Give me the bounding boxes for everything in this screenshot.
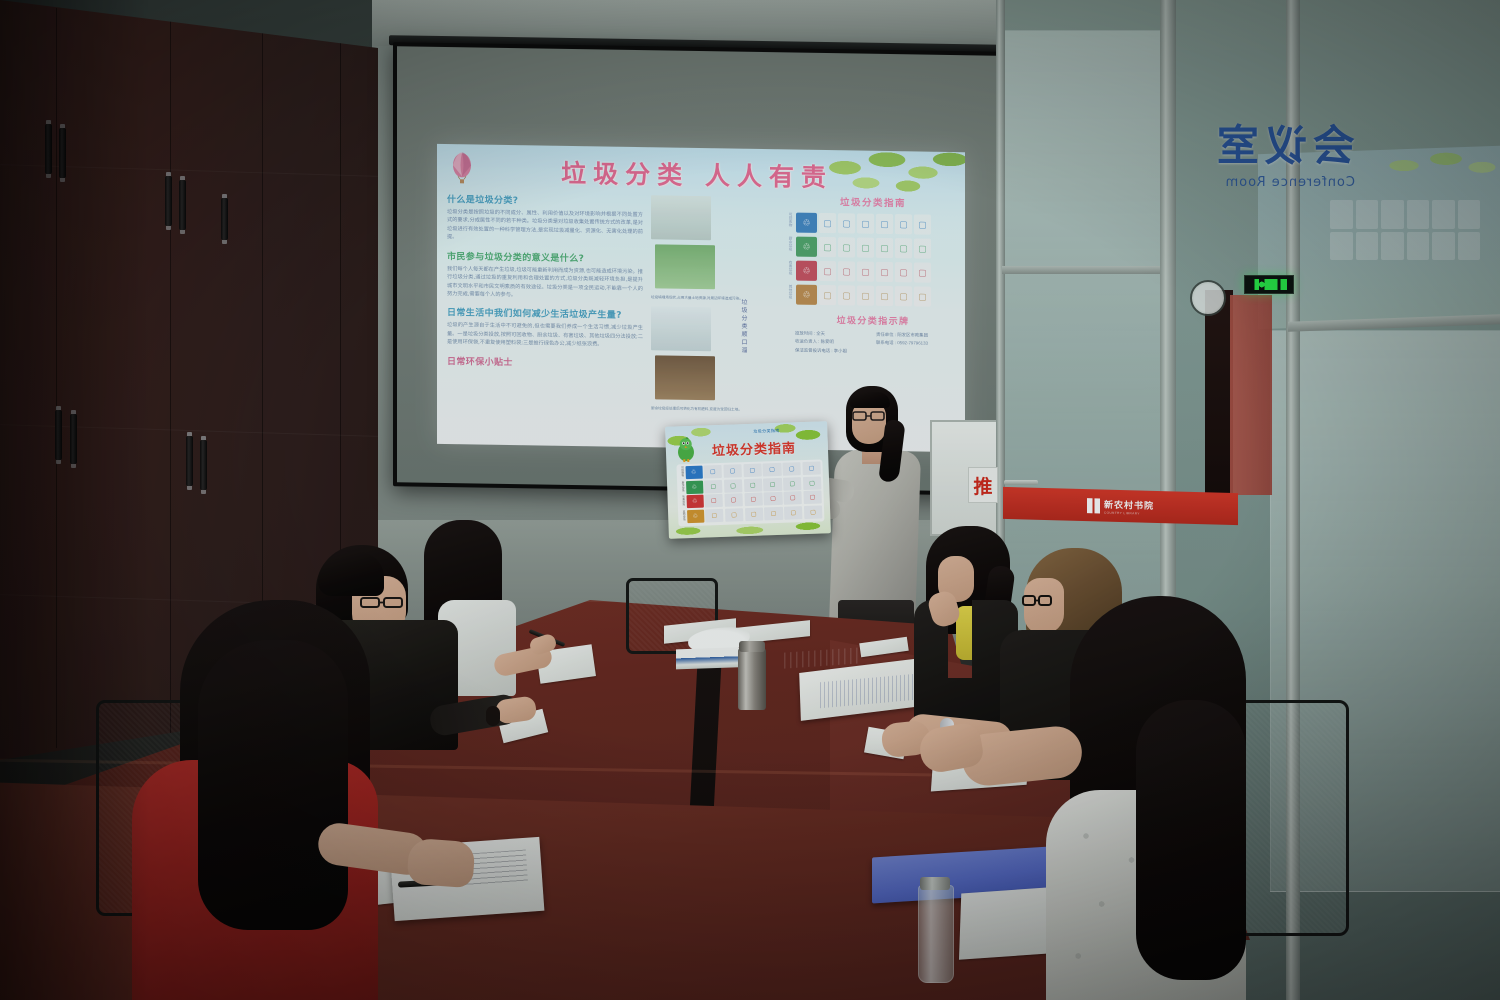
guide-item-1: ▢ — [838, 237, 855, 257]
slide-body-3: 垃圾的产生源自于生活中不可避免的,但也需要我们养成一个生活习惯,减少垃圾产生量。… — [447, 321, 643, 349]
poster-row-label: 可回收物 — [678, 466, 683, 479]
slide-heading-1: 什么是垃圾分类? — [447, 192, 643, 208]
conference-room-sign-en: Conference Room — [1155, 175, 1355, 190]
guide-item-4: ▢ — [895, 286, 912, 306]
slide-photo-caption-2: 厨余垃圾经处理后可转化为有机肥料,变废为宝回归土地。 — [651, 407, 779, 414]
poster-category-badge: ♲ — [686, 495, 703, 509]
poster-item-2: ▢ — [743, 464, 762, 478]
guide-item-0: ▢ — [819, 237, 836, 257]
slide-photo-landfill — [651, 195, 711, 240]
conference-room-sign-cn: 会议室 — [1155, 112, 1355, 173]
guide-panel-title: 垃圾分类指南 — [789, 193, 957, 210]
poster-item-4: ▢ — [783, 491, 802, 505]
guide-item-5: ▢ — [914, 286, 931, 306]
poster-item-0: ▢ — [704, 494, 723, 508]
poster-item-5: ▢ — [803, 476, 822, 490]
guide-row-2: 有害垃圾♲▢▢▢▢▢▢ — [789, 260, 957, 283]
bottle-cap[interactable] — [920, 877, 950, 890]
thermos-lid[interactable] — [739, 641, 765, 652]
guide-item-3: ▢ — [876, 214, 893, 234]
slide-vertical-text: 垃圾分类顺口溜 — [739, 299, 748, 355]
guide-item-1: ▢ — [838, 285, 855, 305]
cabinet-handle[interactable] — [221, 198, 228, 240]
guide-item-2: ▢ — [857, 286, 874, 306]
poster-item-3: ▢ — [763, 477, 782, 491]
guide-item-3: ▢ — [876, 286, 893, 306]
cabinet-handle[interactable] — [179, 180, 186, 230]
guide-item-5: ▢ — [914, 262, 931, 282]
poster-item-4: ▢ — [784, 506, 803, 520]
guide-item-0: ▢ — [819, 285, 836, 305]
guide-item-2: ▢ — [857, 238, 874, 258]
poster-board[interactable]: 垃圾分类指南 垃圾分类指南 可回收物♲▢▢▢▢▢▢厨余垃圾♲▢▢▢▢▢▢有害垃圾… — [665, 421, 831, 539]
poster-item-1: ▢ — [725, 508, 744, 522]
slide-body-2: 我们每个人每天都在产生垃圾,垃圾可能重新利用而成为资源,也可能造成环境污染。推行… — [447, 265, 643, 302]
attendee-1-hand — [406, 838, 475, 888]
emergency-exit-icon — [1244, 275, 1294, 294]
guide-category-badge: ♲ — [796, 261, 817, 281]
poster-category-badge: ♲ — [685, 480, 702, 494]
poster-item-1: ▢ — [724, 479, 743, 493]
left-shadow-gradient — [0, 0, 150, 1000]
poster-item-0: ▢ — [703, 465, 722, 479]
corridor-shadow — [1205, 290, 1233, 500]
poster-item-5: ▢ — [803, 490, 822, 504]
poster-item-2: ▢ — [744, 493, 763, 507]
poster-title: 垃圾分类指南 — [712, 437, 797, 459]
guide-row-0: 可回收物♲▢▢▢▢▢▢ — [789, 212, 957, 235]
guide-item-5: ▢ — [914, 214, 931, 234]
guide-row-1: 厨余垃圾♲▢▢▢▢▢▢ — [789, 236, 957, 259]
guide-item-5: ▢ — [914, 238, 931, 258]
guide-item-3: ▢ — [876, 262, 893, 282]
poster-item-1: ▢ — [724, 493, 743, 507]
slide-title: 垃圾分类 人人有责 — [547, 154, 847, 195]
glass-mullion-horizontal — [1002, 266, 1160, 274]
presenter-fringe — [850, 392, 890, 408]
poster-item-3: ▢ — [764, 506, 783, 520]
poster-row-label: 厨余垃圾 — [679, 481, 684, 494]
guide-category-badge: ♲ — [796, 285, 817, 305]
guide-item-1: ▢ — [838, 261, 855, 281]
push-sign: 推 — [968, 467, 998, 503]
guide-category-badge: ♲ — [796, 237, 817, 257]
guide-item-2: ▢ — [857, 262, 874, 282]
poster-item-0: ▢ — [705, 508, 724, 522]
poster-brand-mark: 垃圾分类指南 — [753, 428, 780, 435]
sign-field-4: 保洁监督投诉电话 : 李小姐 — [795, 346, 870, 356]
green-bird-mascot-icon — [674, 436, 697, 463]
slide-photo-compost — [655, 356, 715, 401]
guide-item-3: ▢ — [876, 238, 893, 258]
guide-item-4: ▢ — [895, 238, 912, 258]
poster-item-3: ▢ — [764, 492, 783, 506]
slide-photo-bottles — [651, 307, 711, 352]
guide-category-badge: ♲ — [796, 213, 817, 233]
poster-item-4: ▢ — [783, 477, 802, 491]
slide-right-column: 垃圾分类指南 可回收物♲▢▢▢▢▢▢厨余垃圾♲▢▢▢▢▢▢有害垃圾♲▢▢▢▢▢▢… — [789, 193, 957, 357]
wall-clock — [1190, 280, 1226, 316]
door-brand-band: 新农村书院 COUNTRY LIBRARY — [1003, 487, 1238, 525]
guide-item-0: ▢ — [819, 261, 836, 281]
poster-item-0: ▢ — [704, 479, 723, 493]
slide-photo-bins — [655, 244, 715, 289]
reflected-leaf-graphic — [1380, 152, 1500, 186]
guide-item-4: ▢ — [895, 214, 912, 234]
poster-category-badge: ♲ — [685, 466, 702, 480]
guide-item-4: ▢ — [895, 262, 912, 282]
slide-heading-3: 日常生活中我们如何减少生活垃圾产生量? — [447, 305, 643, 321]
slide-photo-caption-1: 垃圾填埋场现状,占用大量土地资源,对周边环境造成污染。 — [651, 295, 779, 302]
poster-item-3: ▢ — [763, 463, 782, 477]
poster-item-5: ▢ — [804, 505, 823, 519]
poster-category-badge: ♲ — [686, 509, 703, 523]
guide-row-side-label: 厨余垃圾 — [789, 236, 794, 256]
attendee-2-fringe — [318, 552, 384, 596]
slide-body-1: 垃圾分类是按照垃圾的不同成分、属性、利用价值以及对环境影响并根据不同处置方式的要… — [447, 208, 643, 245]
poster-item-2: ▢ — [744, 507, 763, 521]
slide-left-column: 什么是垃圾分类? 垃圾分类是按照垃圾的不同成分、属性、利用价值以及对环境影响并根… — [447, 192, 643, 373]
thermos-flask[interactable] — [738, 648, 766, 710]
cabinet-handle[interactable] — [165, 176, 172, 226]
guide-item-2: ▢ — [857, 214, 874, 234]
door-handle[interactable] — [1004, 480, 1038, 485]
conference-room-sign: 会议室 Conference Room — [1155, 112, 1355, 220]
glasses-icon — [360, 596, 404, 610]
cabinet-handle[interactable] — [200, 440, 207, 490]
guide-row-side-label: 其他垃圾 — [789, 284, 794, 304]
poster-item-5: ▢ — [802, 461, 821, 475]
cabinet-handle[interactable] — [186, 436, 193, 486]
attendee-2-bracelet — [486, 706, 500, 726]
poster-row-label: 有害垃圾 — [679, 495, 684, 508]
glass-panel — [1002, 30, 1162, 632]
guide-row-side-label: 有害垃圾 — [789, 260, 794, 280]
corridor-red-door — [1230, 295, 1272, 495]
meeting-room-photo: 垃圾分类 人人有责 什么是垃圾分类? 垃圾分类是按照垃圾的不同成分、属性、利用价… — [0, 0, 1500, 1000]
hot-air-balloon-icon — [450, 152, 474, 186]
guide-item-0: ▢ — [819, 213, 836, 233]
glasses-icon — [1022, 594, 1052, 608]
sign-panel-fields: 投放时间 : 全天责任单位 : 阳发区市政集团收运负责人 : 陈爱明联系电话 :… — [789, 329, 957, 357]
attendee-6-ponytail — [1136, 700, 1246, 980]
slide-heading-4: 日常环保小贴士 — [447, 354, 643, 370]
poster-item-1: ▢ — [723, 464, 742, 478]
sign-panel-title: 垃圾分类指示牌 — [789, 312, 957, 328]
guide-row-side-label: 可回收物 — [789, 212, 794, 232]
poster-item-2: ▢ — [743, 478, 762, 492]
glass-water-bottle[interactable] — [918, 885, 954, 983]
poster-category-grid: 可回收物♲▢▢▢▢▢▢厨余垃圾♲▢▢▢▢▢▢有害垃圾♲▢▢▢▢▢▢其他垃圾♲▢▢… — [676, 459, 824, 526]
guide-row-3: 其他垃圾♲▢▢▢▢▢▢ — [789, 284, 957, 307]
poster-row-label: 其他垃圾 — [680, 510, 685, 523]
poster-item-4: ▢ — [782, 462, 801, 476]
brand-logo-icon — [1087, 498, 1100, 513]
slide-middle-column: 垃圾填埋场现状,占用大量土地资源,对周边环境造成污染。 厨余垃圾经处理后可转化为… — [651, 195, 779, 420]
attendee-1-hair-front — [198, 640, 348, 930]
door-band-text: 新农村书院 — [1104, 497, 1154, 511]
sign-field-3: 联系电话 : 0592-79796133 — [876, 339, 951, 349]
slide-heading-2: 市民参与垃圾分类的意义是什么? — [447, 249, 643, 265]
guide-item-1: ▢ — [838, 213, 855, 233]
glasses-icon — [852, 410, 886, 422]
guide-category-rows: 可回收物♲▢▢▢▢▢▢厨余垃圾♲▢▢▢▢▢▢有害垃圾♲▢▢▢▢▢▢其他垃圾♲▢▢… — [789, 212, 957, 307]
